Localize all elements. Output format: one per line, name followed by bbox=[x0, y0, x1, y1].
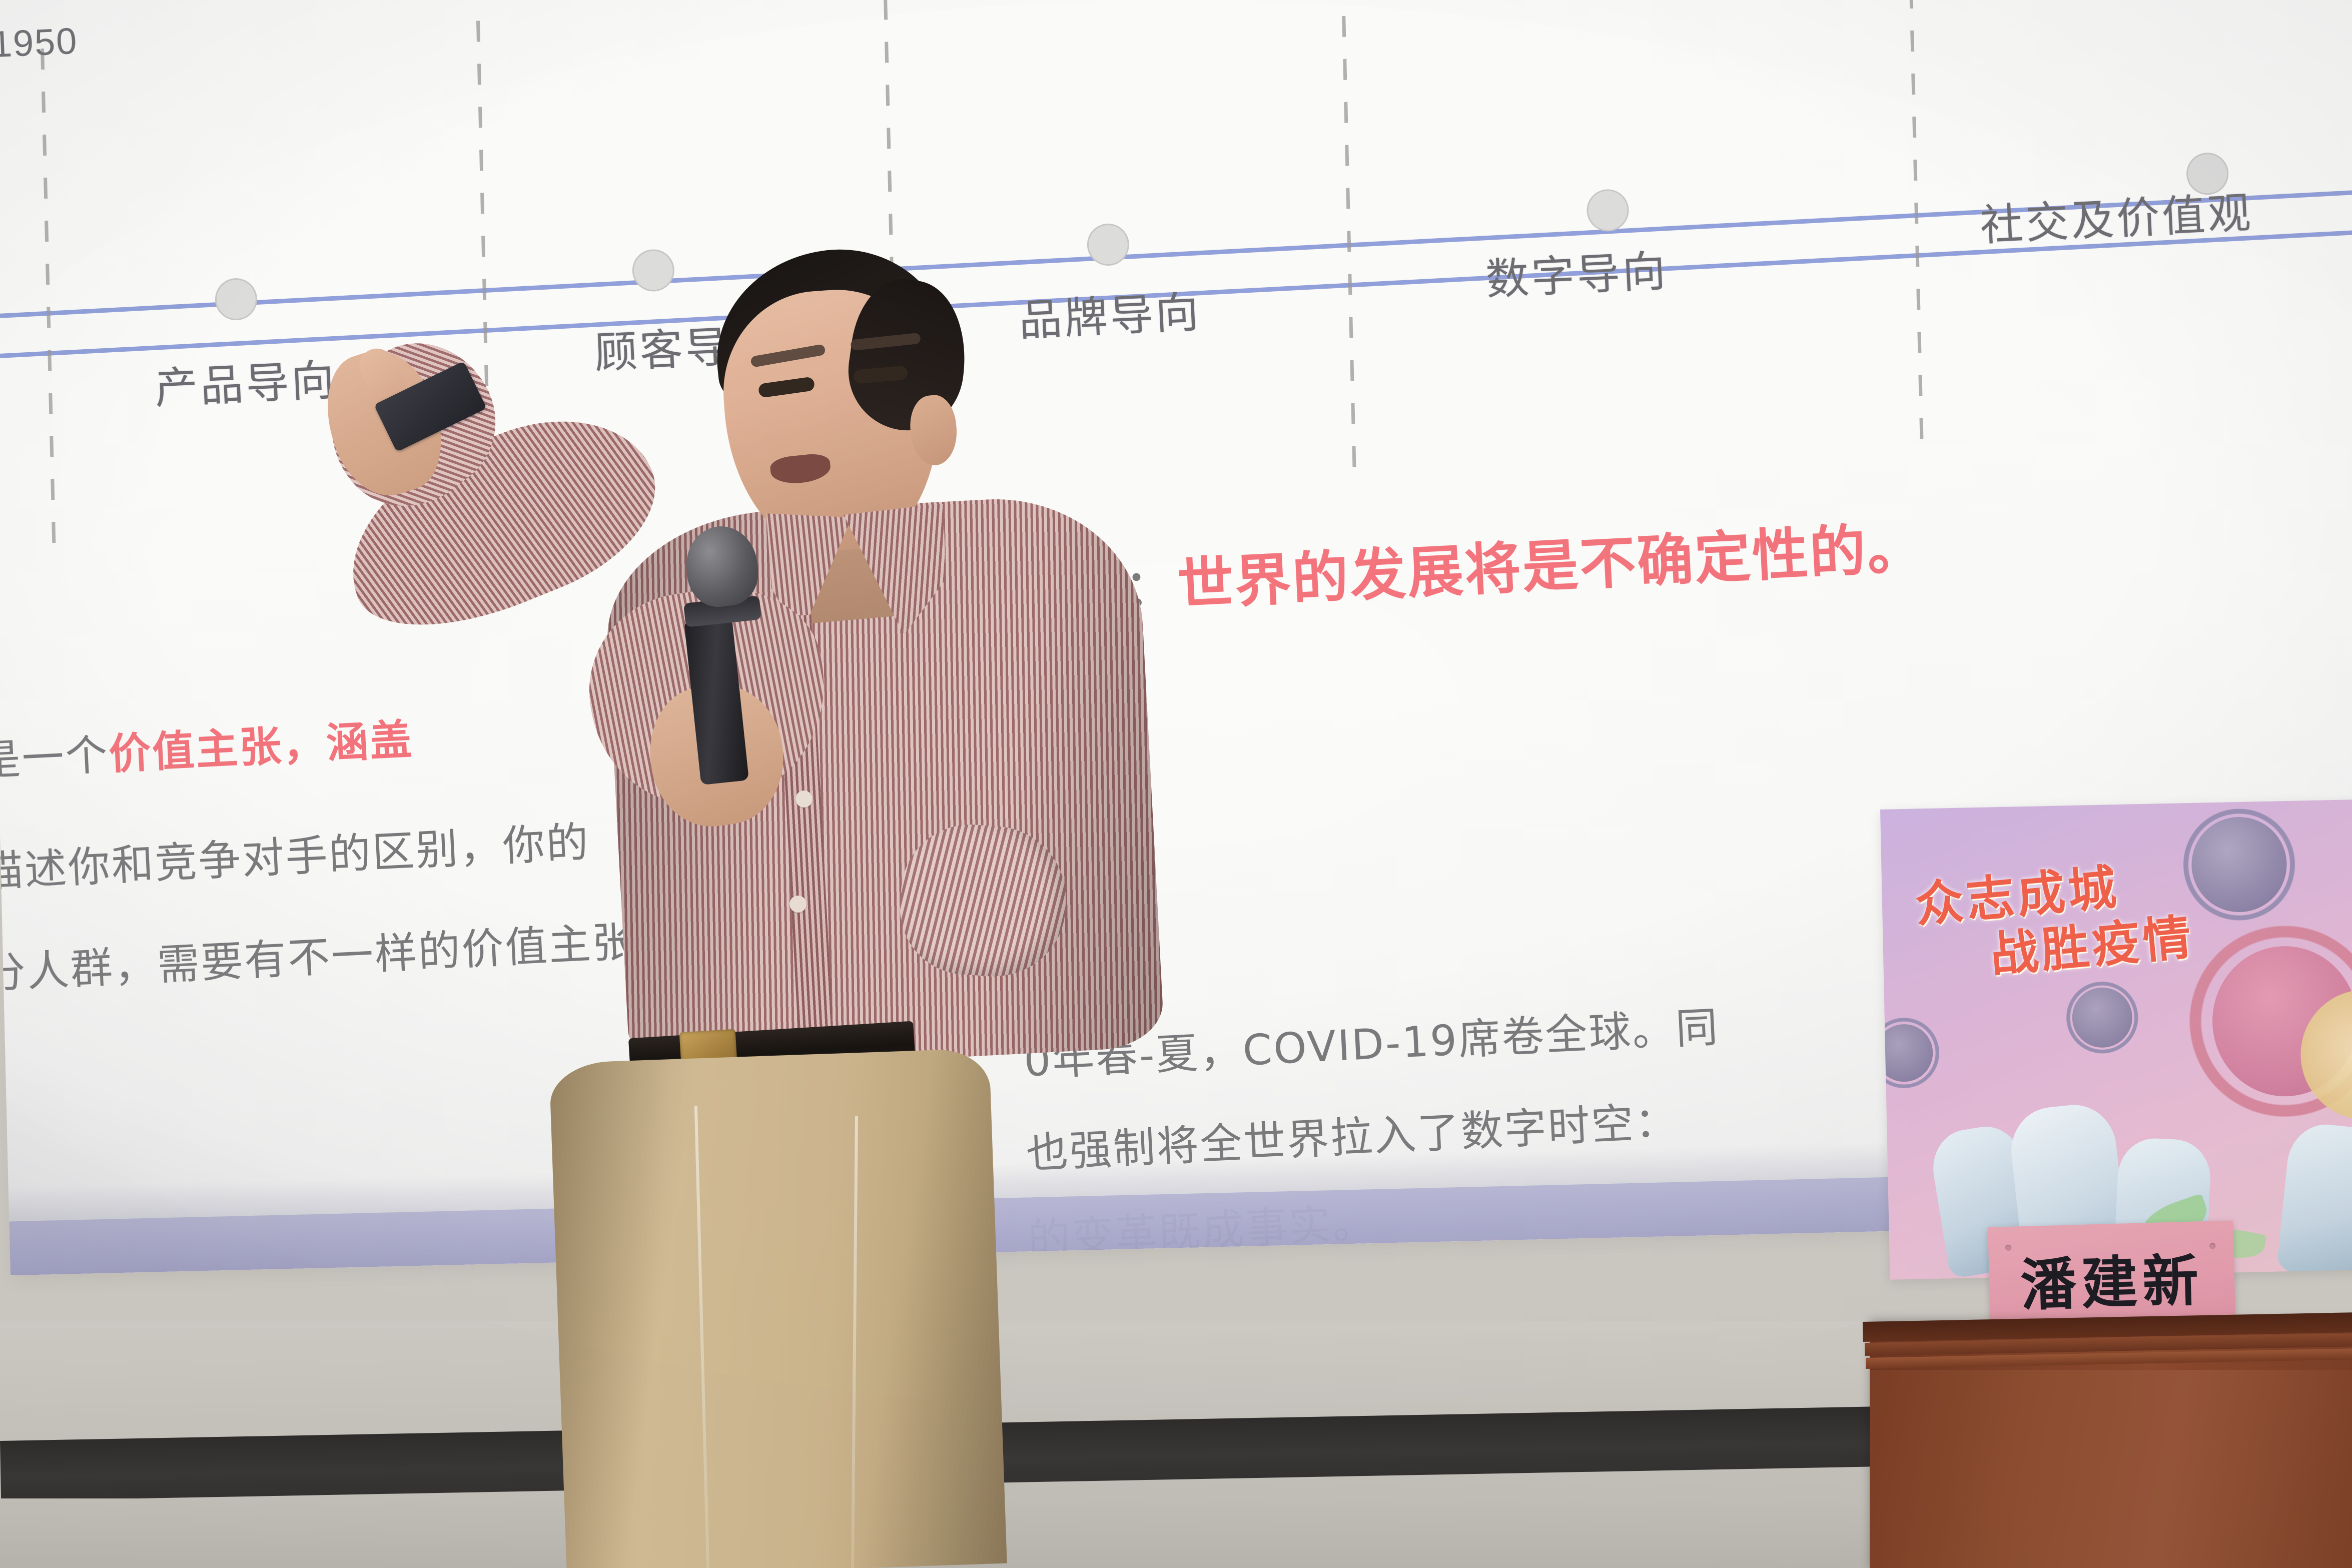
covid-poster: 众志成城 战胜疫情 bbox=[1880, 800, 2352, 1280]
nameplate-name: 潘建新 bbox=[2019, 1235, 2204, 1321]
timeline-node bbox=[632, 249, 675, 292]
timeline-node bbox=[1587, 189, 1630, 232]
timeline-stage-brand: 品牌导向 bbox=[1017, 277, 1202, 348]
timeline-divider bbox=[884, 0, 899, 504]
slide-body-highlight: 价值主张，涵盖 bbox=[108, 715, 414, 779]
timeline-stage-digital: 数字导向 bbox=[1484, 236, 1670, 307]
slide-body-line: 么。 bbox=[1016, 740, 1106, 806]
presentation-photo: 1950 1970 产品导向 顾客导向 品牌导向 数字导向 社交及价值观 是：世… bbox=[0, 0, 2352, 1568]
nameplate-pin bbox=[2005, 1245, 2011, 1251]
timeline-stage-social-values: 社交及价值观 bbox=[1978, 178, 2254, 253]
slide-body-line: 描述你和竞争对手的区别，你的 bbox=[0, 809, 591, 899]
slide-body-prefix: 是一个 bbox=[0, 730, 110, 786]
podium bbox=[1870, 1322, 2352, 1568]
slide-body-line: 是一个价值主张，涵盖 bbox=[0, 706, 414, 788]
timeline-stage-customer: 顾客导向 bbox=[593, 309, 778, 380]
slide-headline-highlight: 世界的发展将是不确定性的。 bbox=[1176, 515, 1926, 617]
timeline-node bbox=[215, 278, 258, 321]
slide-body-line: 分人群，需要有不一样的价值主张 bbox=[0, 908, 637, 1001]
slide-body-line: 0年春-夏，COVID-19席卷全球。同 bbox=[1022, 994, 1720, 1089]
timeline-node bbox=[1087, 223, 1130, 266]
timeline-year-label: 1950 bbox=[0, 20, 79, 66]
medical-worker bbox=[2276, 1121, 2352, 1279]
timeline-divider bbox=[476, 21, 492, 526]
virus-spikes bbox=[1880, 1016, 1942, 1091]
slide-headline: 是：世界的发展将是不确定性的。 bbox=[1068, 502, 1926, 626]
timeline-divider bbox=[1908, 0, 1924, 445]
timeline-divider bbox=[41, 49, 56, 549]
timeline-stage-product: 产品导向 bbox=[153, 345, 338, 416]
poster-title: 众志成城 战胜疫情 bbox=[1913, 853, 2196, 990]
slide-headline-prefix: 是： bbox=[1069, 556, 1179, 622]
timeline-divider bbox=[1341, 0, 1356, 473]
podium-front-panel bbox=[1870, 1370, 2352, 1568]
nameplate-pin bbox=[2209, 1243, 2215, 1249]
